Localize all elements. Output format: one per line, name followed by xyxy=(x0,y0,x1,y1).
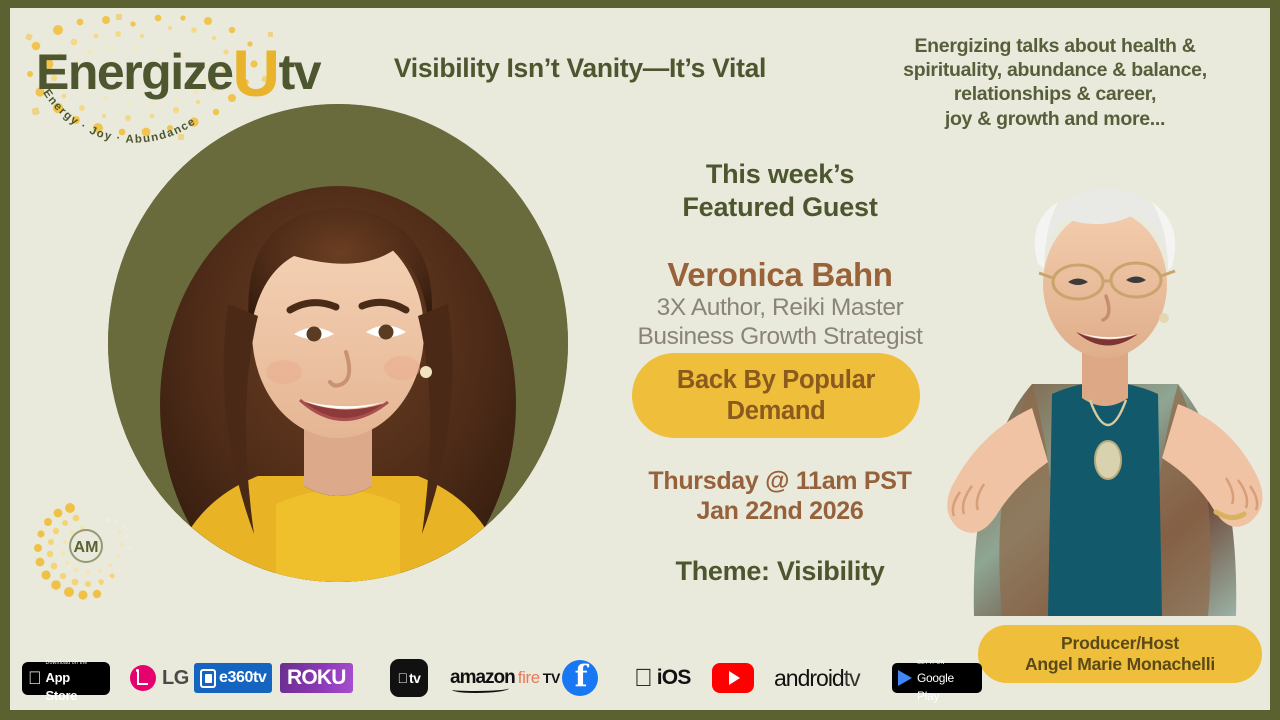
e360tv-label: e360tv xyxy=(219,669,266,687)
apple-icon:  xyxy=(398,671,409,685)
am-spiral-icon: AM xyxy=(24,496,144,611)
guest-photo-illustration xyxy=(108,104,568,582)
tagline-line-4: joy & growth and more... xyxy=(840,107,1270,131)
episode-datetime: Thursday @ 11am PST Jan 22nd 2026 xyxy=(565,466,995,526)
tagline-line-1: Energizing talks about health & xyxy=(840,34,1270,58)
lg-logo[interactable]: LG xyxy=(130,665,189,691)
episode-theme: Theme: Visibility xyxy=(565,556,995,587)
tagline-line-2: spirituality, abundance & balance, xyxy=(840,58,1270,82)
platform-facebook[interactable] xyxy=(562,658,598,698)
ios-label: iOS xyxy=(657,666,691,690)
datetime-line-2: Jan 22nd 2026 xyxy=(565,496,995,526)
android-tv-word: tv xyxy=(844,665,860,692)
poster-canvas: EnergizeUtv Energy · Joy · Abundance Vis… xyxy=(10,8,1270,710)
guest-name: Veronica Bahn xyxy=(565,256,995,294)
platform-amazon-fire-tv[interactable]: amazon fire TV xyxy=(450,658,560,698)
platform-app-store[interactable]:  Download on the App Store xyxy=(22,658,110,698)
platform-e360tv[interactable]: e360tv xyxy=(194,658,272,698)
platform-google-play[interactable]: GET IT ON Google Play xyxy=(892,658,982,698)
e360tv-icon xyxy=(200,669,216,688)
fire-word: fire xyxy=(518,668,540,688)
guest-credential-1: 3X Author, Reiki Master xyxy=(565,294,995,323)
tagline-block: Energizing talks about health & spiritua… xyxy=(840,34,1270,131)
apple-icon:  xyxy=(28,669,42,687)
datetime-line-1: Thursday @ 11am PST xyxy=(565,466,995,496)
producer-role: Producer/Host xyxy=(1061,633,1179,654)
guest-portrait xyxy=(108,104,568,582)
poster-frame: EnergizeUtv Energy · Joy · Abundance Vis… xyxy=(0,0,1280,720)
page-title: Visibility Isn’t Vanity—It’s Vital xyxy=(320,53,840,84)
apple-icon:  xyxy=(634,666,653,691)
google-play-badge[interactable]: GET IT ON Google Play xyxy=(892,663,982,693)
app-store-small: Download on the xyxy=(46,660,88,666)
apple-tv-badge[interactable]:  tv xyxy=(390,659,428,697)
featured-guest-heading: This week’s Featured Guest xyxy=(565,158,995,224)
platform-roku[interactable]: ROKU xyxy=(280,658,353,698)
platform-android-tv[interactable]: android tv xyxy=(774,658,860,698)
ios-logo[interactable]:  iOS xyxy=(634,666,691,691)
guest-info-block: This week’s Featured Guest Veronica Bahn… xyxy=(565,158,995,352)
app-store-badge[interactable]:  Download on the App Store xyxy=(22,662,110,695)
logo-tv: tv xyxy=(279,44,320,100)
google-play-small: GET IT ON xyxy=(917,660,945,666)
platform-apple-tv[interactable]:  tv xyxy=(390,658,428,698)
amazon-fire-tv-logo[interactable]: amazon fire TV xyxy=(450,667,560,689)
e360tv-badge[interactable]: e360tv xyxy=(194,663,272,693)
producer-name: Angel Marie Monachelli xyxy=(1025,654,1215,675)
platform-logos-bar:  Download on the App Store LG e360tv xyxy=(22,658,972,703)
facebook-icon[interactable] xyxy=(562,660,598,696)
badge-line-2: Demand xyxy=(677,396,875,426)
app-store-large: App Store xyxy=(46,670,78,703)
badge-line-1: Back By Popular xyxy=(677,365,875,395)
lg-face-icon xyxy=(130,665,156,691)
platform-ios[interactable]:  iOS xyxy=(634,658,691,698)
tagline-line-3: relationships & career, xyxy=(840,82,1270,106)
host-photo-illustration xyxy=(940,156,1270,616)
am-watermark-logo: AM xyxy=(24,496,144,611)
host-portrait xyxy=(940,156,1270,616)
back-by-popular-demand-badge[interactable]: Back By Popular Demand xyxy=(632,353,920,438)
apple-tv-label: tv xyxy=(409,670,420,686)
google-play-icon xyxy=(898,670,912,686)
amazon-word: amazon xyxy=(450,667,515,689)
android-word: android xyxy=(774,665,844,692)
roku-badge[interactable]: ROKU xyxy=(280,663,353,693)
producer-host-badge[interactable]: Producer/Host Angel Marie Monachelli xyxy=(978,625,1262,683)
platform-youtube[interactable] xyxy=(712,658,754,698)
guest-credential-2: Business Growth Strategist xyxy=(565,323,995,352)
android-tv-logo[interactable]: android tv xyxy=(774,665,860,692)
google-play-large: Google Play xyxy=(917,671,954,703)
platform-lg[interactable]: LG xyxy=(130,658,189,698)
guest-photo-circle xyxy=(108,104,568,582)
featured-line-2: Featured Guest xyxy=(565,191,995,224)
lg-label: LG xyxy=(162,667,189,690)
am-monogram: AM xyxy=(74,539,99,556)
roku-label: ROKU xyxy=(287,666,346,690)
fire-tv-word: TV xyxy=(543,670,560,686)
youtube-icon[interactable] xyxy=(712,663,754,693)
featured-line-1: This week’s xyxy=(565,158,995,191)
